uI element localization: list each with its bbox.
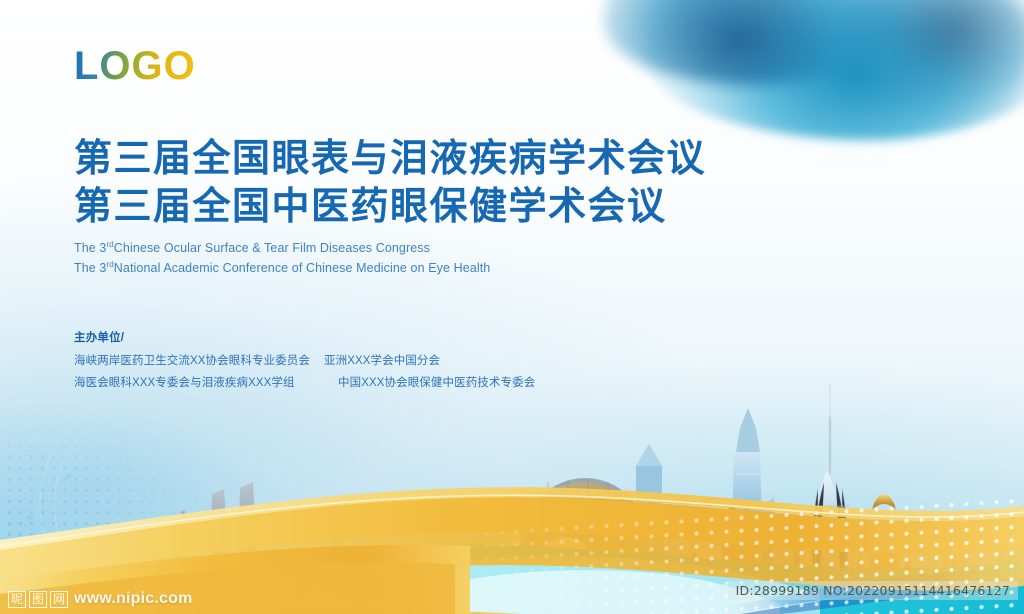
organizers-grid: 海峡两岸医药卫生交流XX协会眼科专业委员会 亚洲XXX学会中国分会 海医会眼科X… [74,352,535,390]
organizers-label: 主办单位/ [74,329,535,345]
subtitle-1-rest: Chinese Ocular Surface & Tear Film Disea… [114,241,430,255]
title-block: 第三届全国眼表与泪液疾病学术会议 第三届全国中医药眼保健学术会议 [74,136,706,232]
nipic-watermark: 昵 图 网 www.nipic.com [8,590,193,608]
nipic-logo-cn: 昵 图 网 [8,591,68,608]
subtitle-1-ordinal: rd [106,240,113,249]
nipic-char-2: 图 [29,591,47,608]
nipic-url: www.nipic.com [74,590,192,608]
watercolor-wash-4 [624,0,794,60]
organizer-row-1-left: 海峡两岸医药卫生交流XX协会眼科专业委员会 [74,352,324,368]
watermark-id: ID:28999189 NO:20220915114416476127 [728,581,1018,600]
subtitle-2-prefix: The 3 [74,261,106,275]
organizer-row-1-right: 亚洲XXX学会中国分会 [324,352,535,368]
watercolor-wash-5 [724,30,984,150]
subtitle-1-prefix: The 3 [74,241,106,255]
organizer-row-2-right: 中国XXX协会眼保健中医药技术专委会 [324,374,535,390]
subtitle-2-rest: National Academic Conference of Chinese … [114,261,491,275]
nipic-char-1: 昵 [8,591,26,608]
poster-canvas: LOGO 第三届全国眼表与泪液疾病学术会议 第三届全国中医药眼保健学术会议 Th… [0,0,1024,614]
subtitle-2-ordinal: rd [106,260,113,269]
organizers-block: 主办单位/ 海峡两岸医药卫生交流XX协会眼科专业委员会 亚洲XXX学会中国分会 … [74,329,535,390]
organizer-row-2-left: 海医会眼科XXX专委会与泪液疾病XXX学组 [74,374,324,390]
subtitle-line-1: The 3rdChinese Ocular Surface & Tear Fil… [74,238,490,258]
subtitle-block: The 3rdChinese Ocular Surface & Tear Fil… [74,238,490,279]
conference-title-line-2: 第三届全国中医药眼保健学术会议 [74,184,706,232]
watercolor-wash-2 [604,0,904,85]
subtitle-line-2: The 3rdNational Academic Conference of C… [74,258,490,278]
watercolor-wash-1 [644,0,1024,140]
watercolor-wash-3 [834,0,1024,120]
nipic-char-3: 网 [50,591,68,608]
conference-title-line-1: 第三届全国眼表与泪液疾病学术会议 [74,136,706,184]
logo[interactable]: LOGO [74,46,196,86]
